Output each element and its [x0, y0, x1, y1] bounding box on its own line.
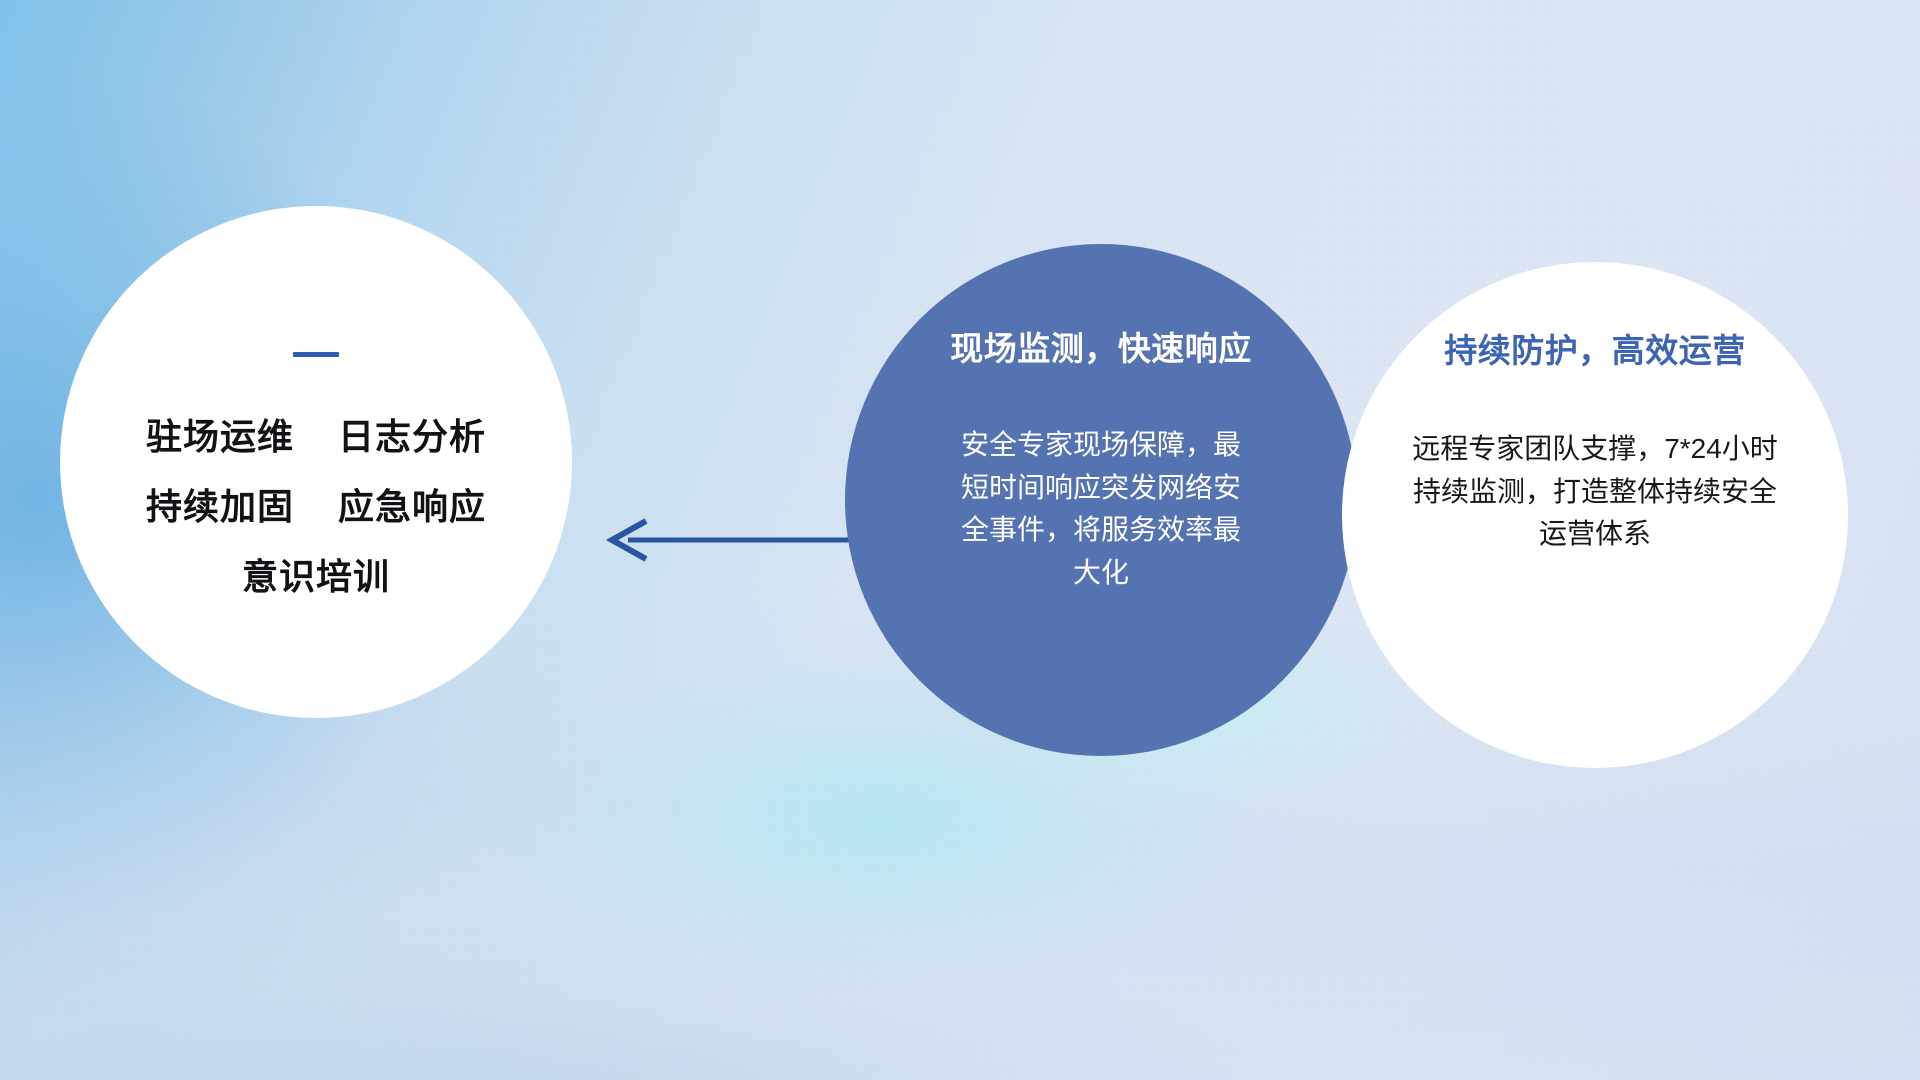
service-keyword-line: 驻场运维 日志分析 [146, 419, 486, 455]
onsite-monitoring-body: 安全专家现场保障，最短时间响应突发网络安全事件，将服务效率最大化 [951, 424, 1251, 594]
divider-dash-icon [293, 352, 339, 357]
service-keyword-line: 意识培训 [242, 559, 390, 595]
onsite-monitoring-title: 现场监测，快速响应 [950, 322, 1252, 370]
continuous-protection-body: 远程专家团队支撑，7*24小时持续监测，打造整体持续安全运营体系 [1410, 428, 1780, 556]
continuous-protection-title: 持续防护，高效运营 [1444, 324, 1746, 372]
slide-canvas: 驻场运维 日志分析 持续加固 应急响应 意识培训 现场监测，快速响应 安全专家现… [0, 0, 1920, 1080]
continuous-protection-content: 持续防护，高效运营 远程专家团队支撑，7*24小时持续监测，打造整体持续安全运营… [1342, 262, 1848, 768]
onsite-monitoring-content: 现场监测，快速响应 安全专家现场保障，最短时间响应突发网络安全事件，将服务效率最… [845, 244, 1357, 756]
driven-services-content: 驻场运维 日志分析 持续加固 应急响应 意识培训 [60, 206, 572, 718]
service-keyword-line: 持续加固 应急响应 [146, 489, 486, 525]
service-keyword-list: 驻场运维 日志分析 持续加固 应急响应 意识培训 [146, 419, 486, 595]
